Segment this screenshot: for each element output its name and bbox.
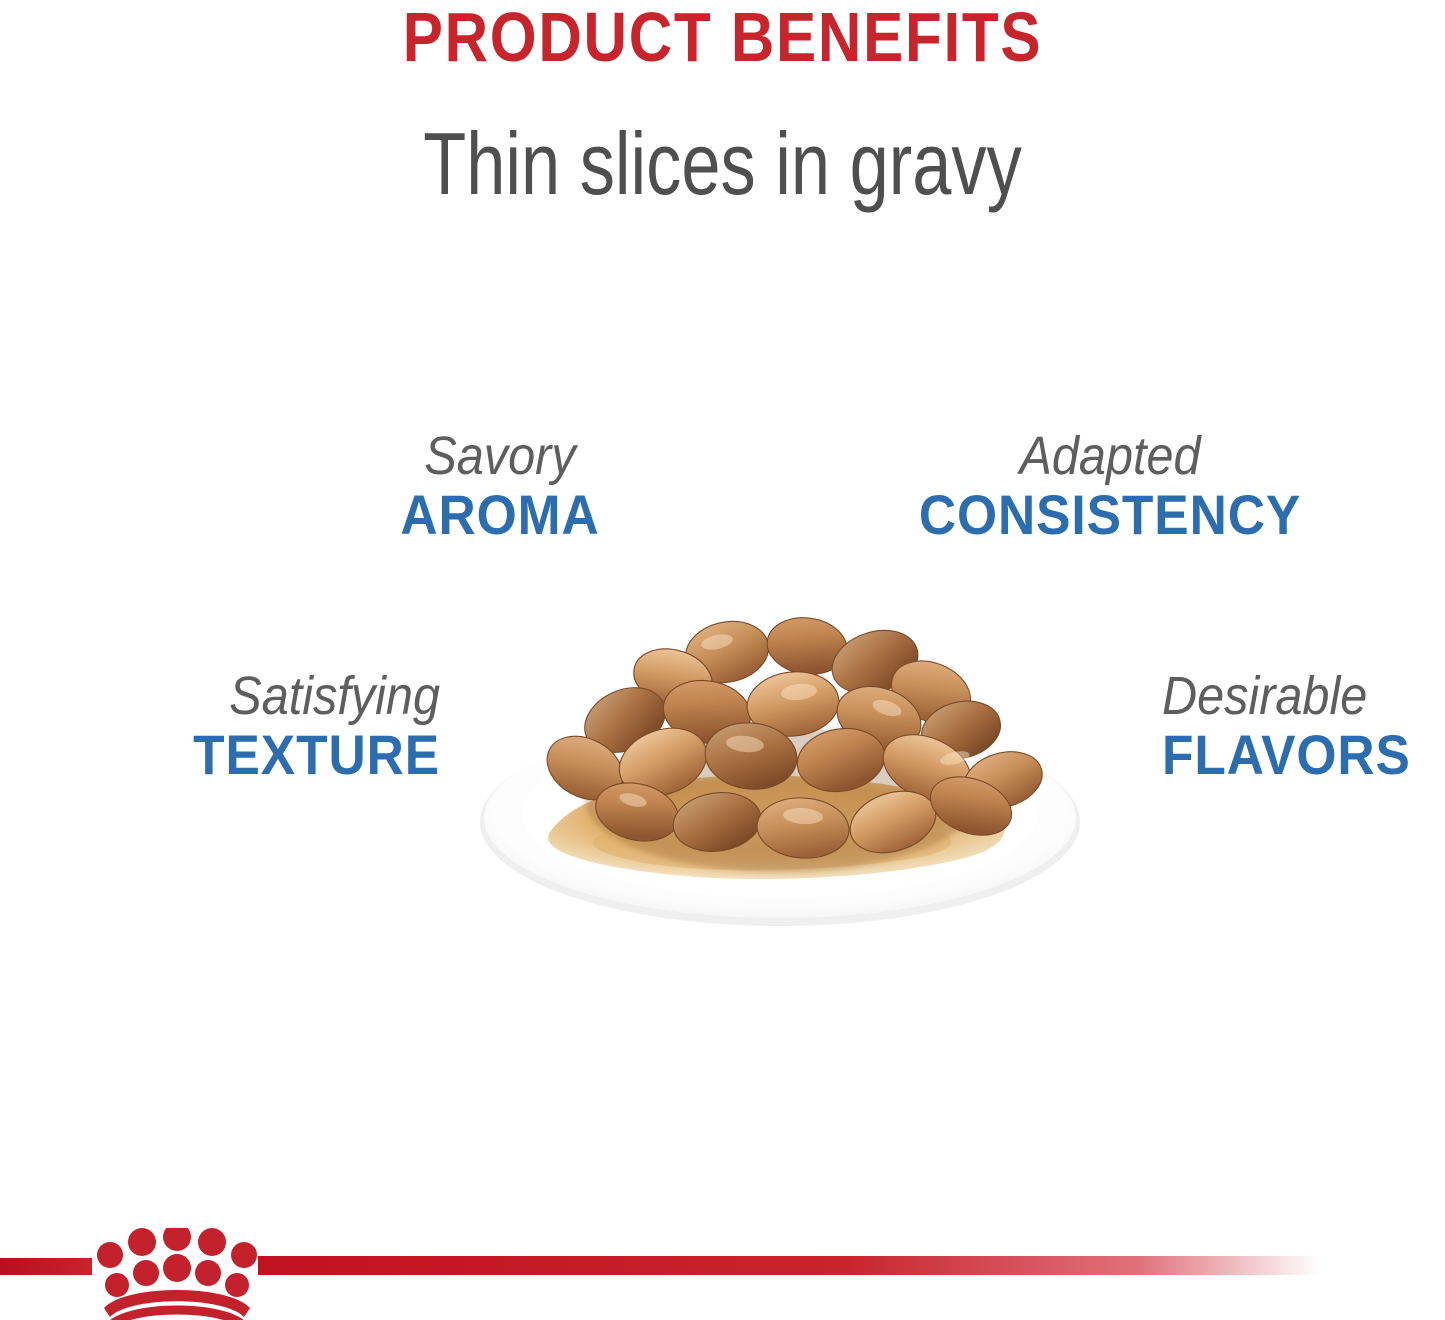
benefit-texture-qualifier: Satisfying — [98, 668, 440, 725]
header: PRODUCT BENEFITS Thin slices in gravy — [0, 0, 1445, 208]
benefit-flavors-qualifier: Desirable — [1162, 668, 1445, 725]
page-title: PRODUCT BENEFITS — [101, 0, 1344, 72]
benefit-texture: Satisfying TEXTURE — [60, 668, 440, 785]
benefit-aroma-keyword: AROMA — [316, 485, 684, 545]
benefit-consistency: Adapted CONSISTENCY — [880, 428, 1340, 545]
footer-rule-left — [0, 1258, 92, 1275]
benefit-flavors-keyword: FLAVORS — [1162, 725, 1445, 785]
benefit-consistency-qualifier: Adapted — [903, 428, 1317, 485]
benefit-aroma-qualifier: Savory — [320, 428, 680, 485]
benefit-texture-keyword: TEXTURE — [90, 725, 440, 785]
royal-canin-crown-logo — [97, 1228, 257, 1320]
food-illustration — [455, 600, 1105, 950]
page-subtitle: Thin slices in gravy — [145, 72, 1301, 208]
benefit-flavors: Desirable FLAVORS — [1162, 668, 1445, 785]
footer — [0, 1228, 1445, 1320]
product-benefits-page: PRODUCT BENEFITS Thin slices in gravy Sa… — [0, 0, 1445, 1320]
product-food-image — [455, 600, 1105, 950]
benefit-aroma: Savory AROMA — [300, 428, 700, 545]
footer-graphic — [0, 1228, 1445, 1320]
footer-rule-right — [258, 1256, 1388, 1275]
benefit-consistency-keyword: CONSISTENCY — [898, 485, 1321, 545]
